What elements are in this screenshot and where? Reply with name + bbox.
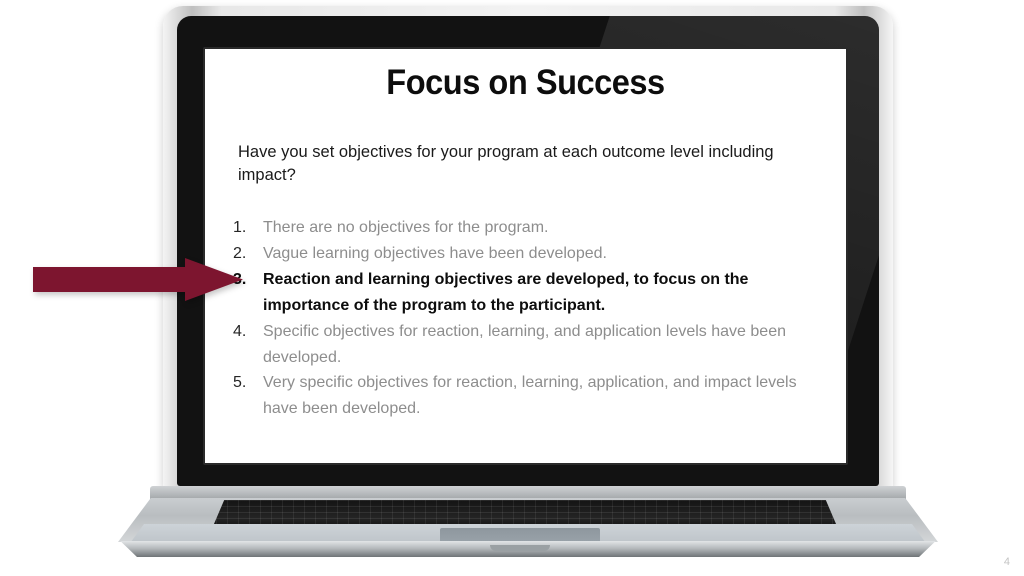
slide-title: Focus on Success	[227, 63, 823, 103]
presentation-slide: Focus on Success Have you set objectives…	[205, 49, 846, 463]
list-item-text: Specific objectives for reaction, learni…	[263, 319, 833, 371]
list-item: 5. Very specific objectives for reaction…	[233, 370, 833, 422]
list-item-number: 4.	[233, 319, 263, 345]
list-item-text: There are no objectives for the program.	[263, 215, 833, 241]
list-item-number: 1.	[233, 215, 263, 241]
list-item: 2. Vague learning objectives have been d…	[233, 241, 833, 267]
list-item-text: Very specific objectives for reaction, l…	[263, 370, 833, 422]
annotation-arrow-icon	[33, 258, 243, 302]
list-item: 4. Specific objectives for reaction, lea…	[233, 319, 833, 371]
page-number: 4	[1004, 556, 1010, 568]
laptop-base-notch	[490, 545, 550, 551]
slide-stage: Focus on Success Have you set objectives…	[0, 0, 1024, 576]
list-item-number: 5.	[233, 370, 263, 396]
list-item-text: Vague learning objectives have been deve…	[263, 241, 833, 267]
slide-lead-question: Have you set objectives for your program…	[238, 141, 813, 188]
list-item-text: Reaction and learning objectives are dev…	[263, 267, 833, 319]
list-item: 1. There are no objectives for the progr…	[233, 215, 833, 241]
objectives-list: 1. There are no objectives for the progr…	[233, 215, 833, 422]
list-item-highlighted: 3. Reaction and learning objectives are …	[233, 267, 833, 319]
